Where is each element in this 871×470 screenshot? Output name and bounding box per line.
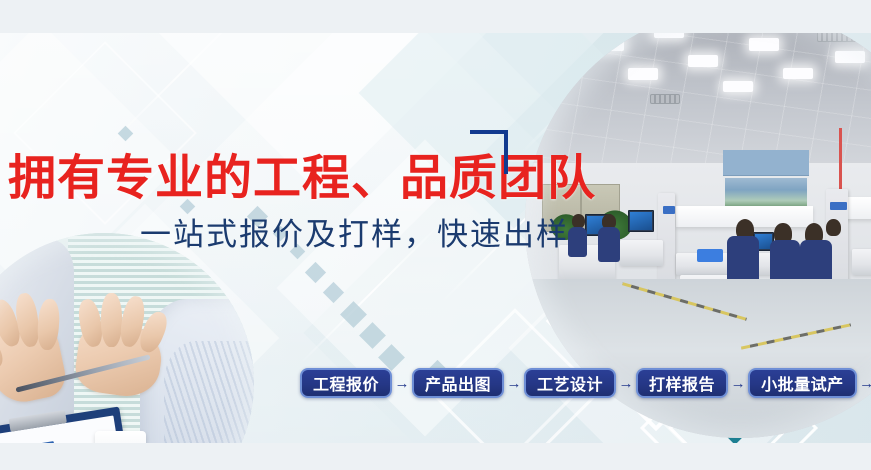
diamond-dot bbox=[359, 322, 386, 349]
process-step-1[interactable]: 工程报价 bbox=[300, 368, 392, 398]
page-subtitle: 一站式报价及打样，快速出样 bbox=[140, 215, 569, 255]
flow-arrow-icon: → bbox=[616, 376, 636, 391]
process-step-4[interactable]: 打样报告 bbox=[636, 368, 728, 398]
process-flow: 工程报价→产品出图→工艺设计→打样报告→小批量试产→批量量产 bbox=[300, 368, 871, 398]
diamond-dot bbox=[323, 282, 344, 303]
process-step-2[interactable]: 产品出图 bbox=[412, 368, 504, 398]
flow-arrow-icon: → bbox=[504, 376, 524, 391]
flow-arrow-icon: → bbox=[728, 376, 748, 391]
process-step-3[interactable]: 工艺设计 bbox=[524, 368, 616, 398]
diamond-dot bbox=[305, 262, 326, 283]
diamond-dot bbox=[118, 126, 134, 142]
light-streak bbox=[99, 33, 256, 155]
process-step-5[interactable]: 小批量试产 bbox=[748, 368, 857, 398]
diamond-dot bbox=[378, 344, 405, 371]
flow-arrow-icon: → bbox=[392, 376, 412, 391]
corner-bracket-icon bbox=[470, 130, 508, 174]
flow-arrow-icon: → bbox=[857, 376, 871, 391]
banner-stage: 拥有专业的工程、品质团队 一站式报价及打样，快速出样 工程报价→产品出图→工艺设… bbox=[0, 0, 871, 470]
business-meeting-photo bbox=[0, 233, 254, 443]
diamond-dot bbox=[340, 301, 367, 328]
promo-banner: 拥有专业的工程、品质团队 一站式报价及打样，快速出样 工程报价→产品出图→工艺设… bbox=[0, 33, 871, 443]
